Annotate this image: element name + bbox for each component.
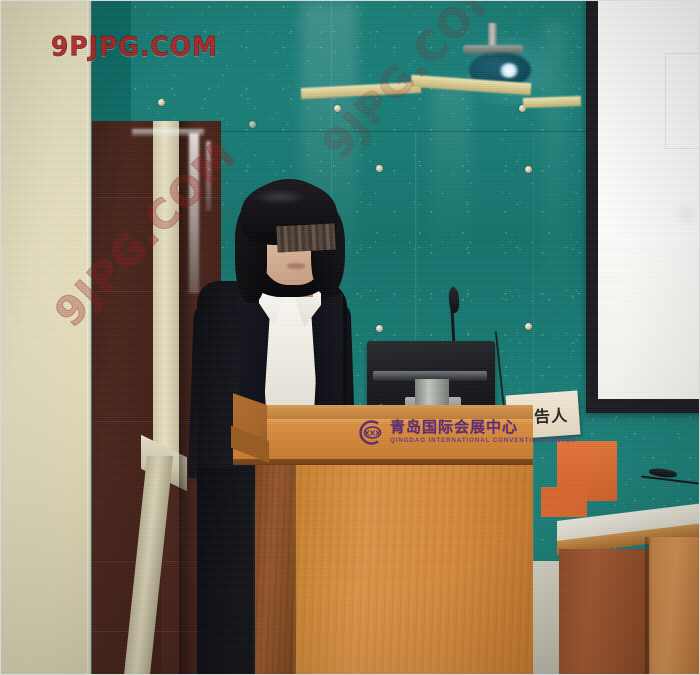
qingdao-convention-center-logo: XXX [357, 419, 384, 446]
projection-screen-smudge [673, 201, 699, 227]
wall-stud-fastener [158, 99, 165, 106]
wall-stud-fastener [376, 325, 383, 332]
side-desk-front-right [649, 537, 700, 675]
projection-screen-faint-box [665, 53, 700, 149]
speaker-mouth [287, 263, 305, 269]
podium-branding: XXX 青岛国际会展中心 QINGDAO INTERNATIONAL CONVE… [357, 419, 576, 446]
svg-text:XXX: XXX [364, 429, 381, 437]
wall-corner-edge [87, 1, 92, 675]
light-reflection-strip [132, 129, 204, 136]
glass-panel-seam [533, 131, 534, 561]
side-desk-corner-shadow [645, 537, 652, 675]
orange-accent-panel [541, 487, 587, 517]
speaker-hair-highlight [253, 189, 307, 205]
wall-stud-fastener [249, 121, 256, 128]
podium-top-edge [233, 405, 533, 419]
conference-presentation-photo: 报告人 XXX 青岛国际会展中心 QINGDAO INTERNATIONAL C… [0, 0, 700, 675]
wall-stud-fastener [376, 165, 383, 172]
glass-reflection-band [431, 81, 471, 261]
podium-wood-grain [255, 463, 295, 675]
podium-brand-english: QINGDAO INTERNATIONAL CONVENTION CENTER [390, 438, 576, 444]
privacy-censor-bar-pixels [276, 224, 335, 253]
projector-lens-highlight [498, 63, 520, 78]
cream-left-wall [1, 1, 91, 675]
wall-stud-fastener [525, 323, 532, 330]
ceiling-beam-reflection [523, 96, 581, 108]
watermark-top-left: 9PJPG.COM [51, 31, 218, 62]
podium-wood-grain [293, 463, 533, 675]
podium-edge-line [293, 463, 296, 675]
side-desk-front-left [559, 549, 649, 675]
wall-stud-fastener [525, 166, 532, 173]
podium-brand-chinese: 青岛国际会展中心 [390, 420, 576, 435]
